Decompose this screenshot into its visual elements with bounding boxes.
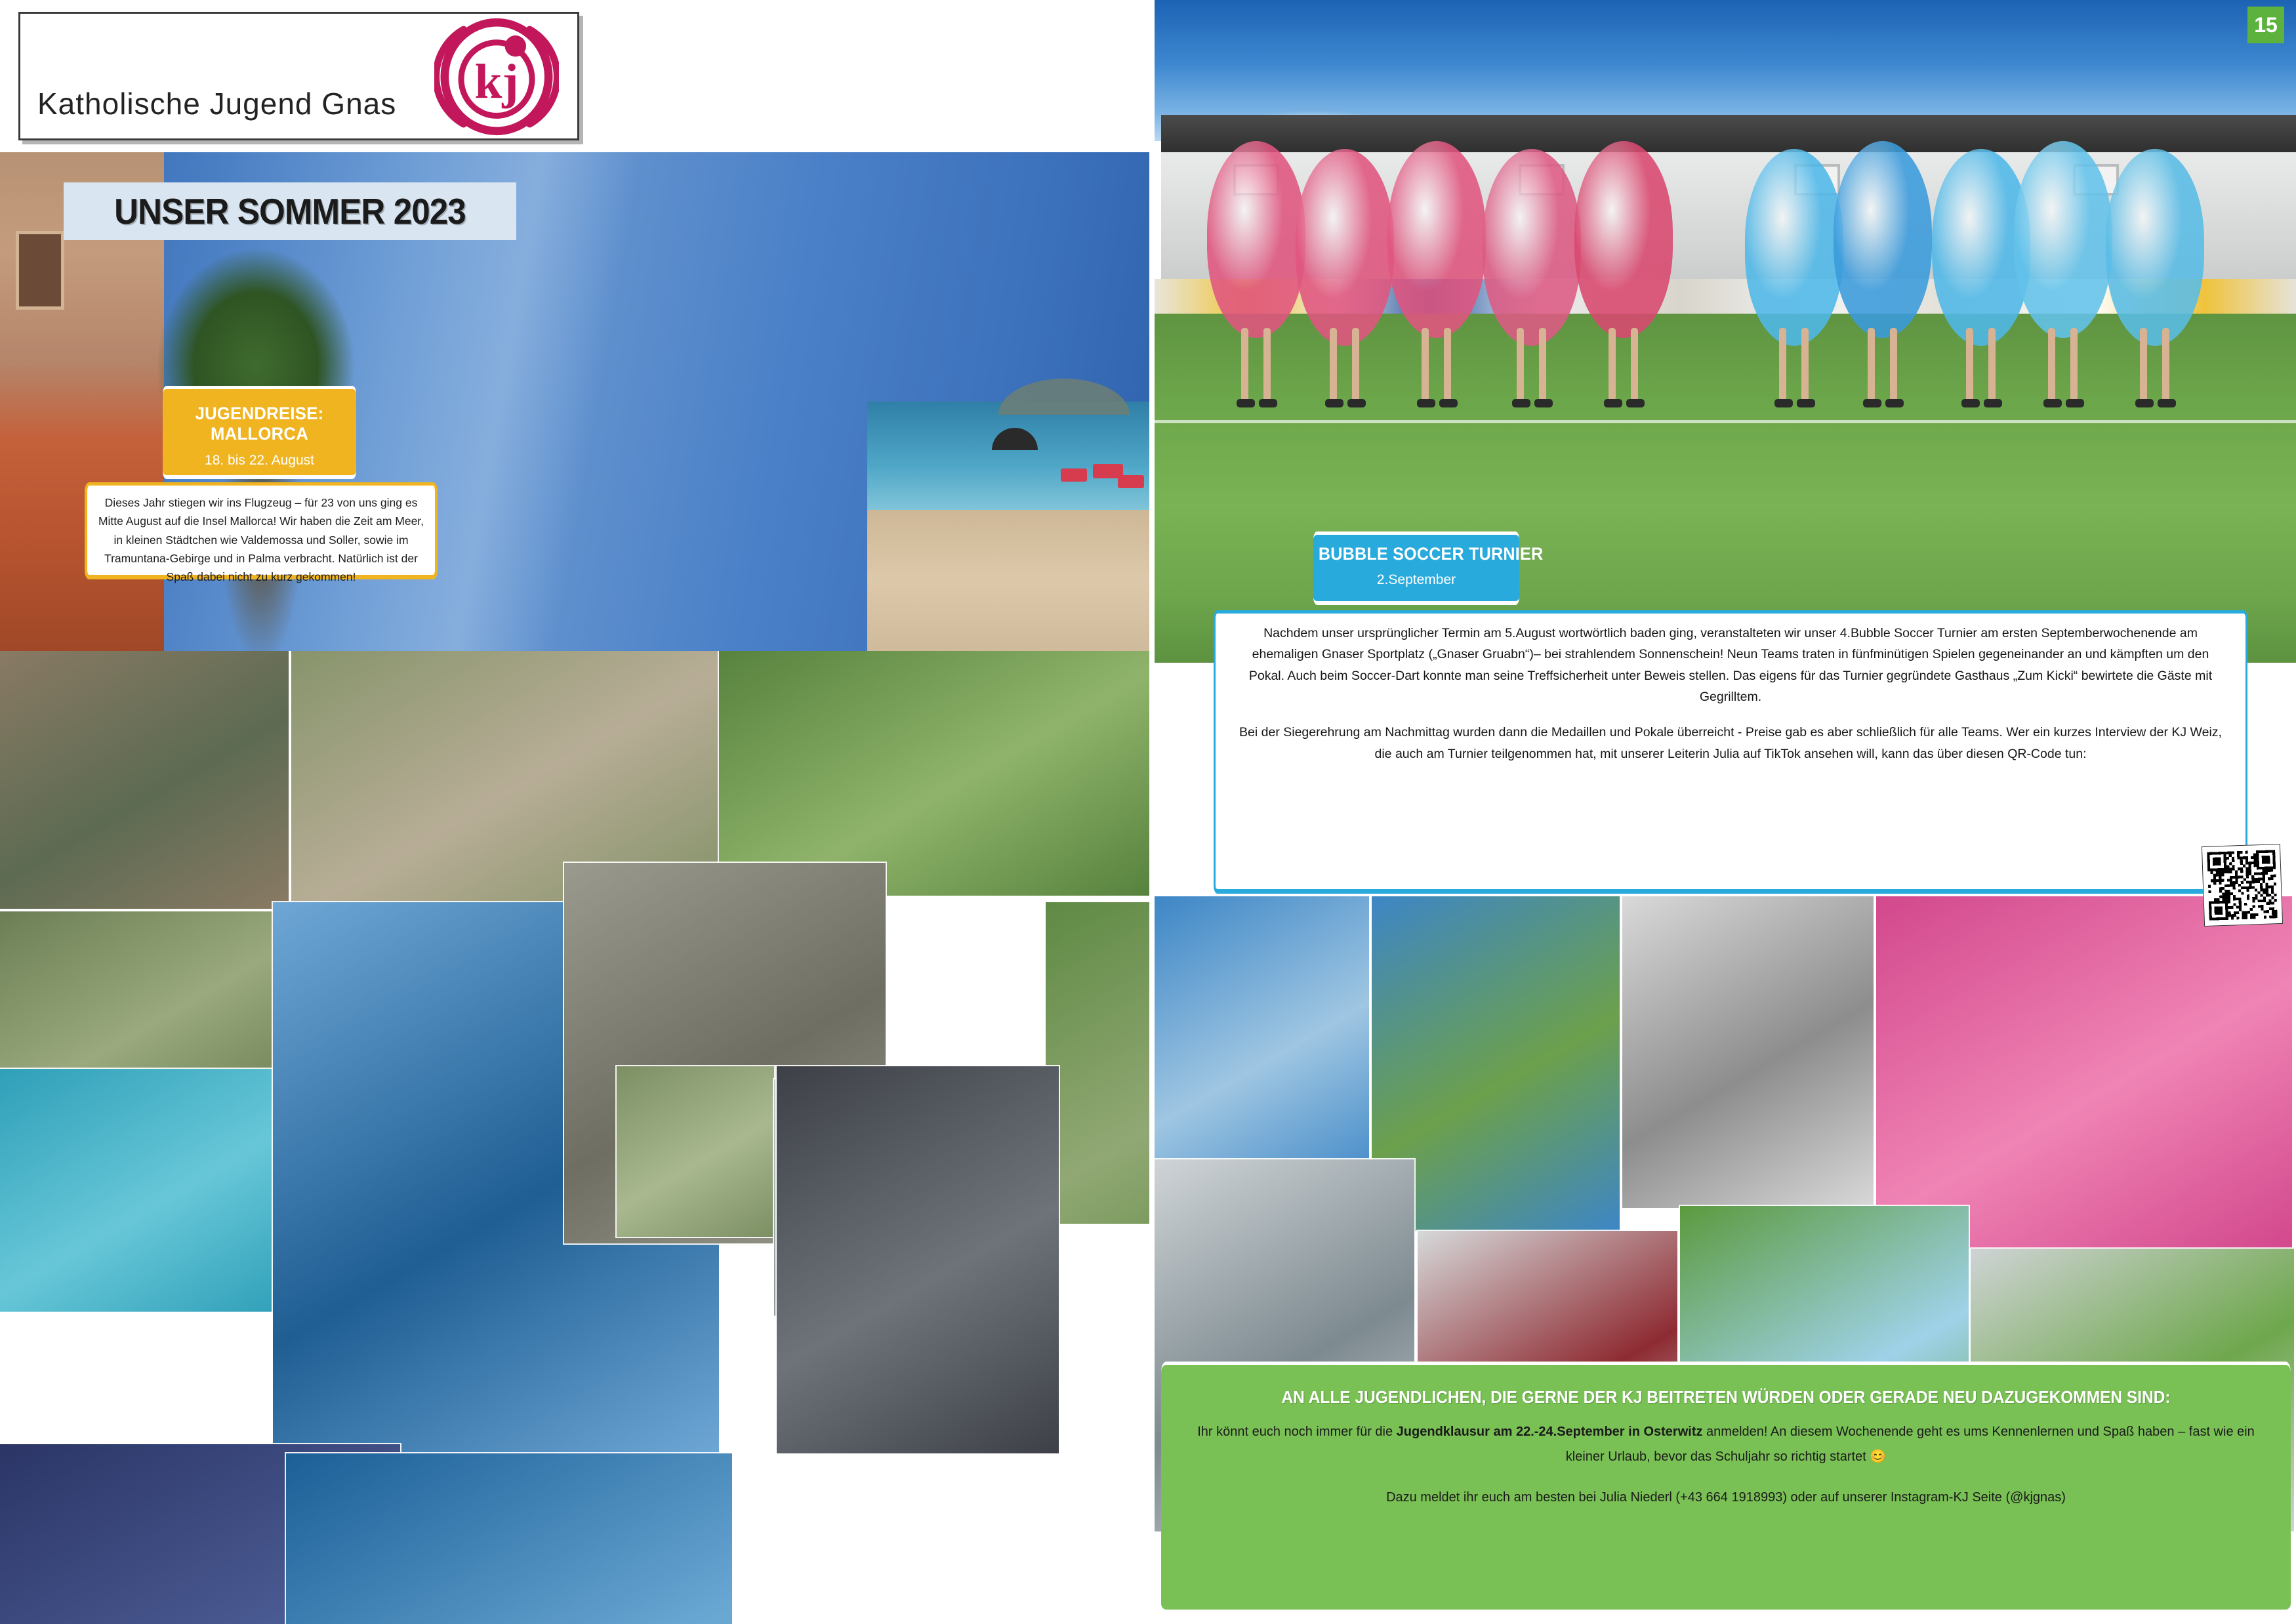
bubble-soccer-banner-date: 2.September	[1313, 572, 1519, 588]
player-shoe	[1626, 399, 1645, 407]
player-shoe	[2043, 399, 2062, 407]
player-shoe	[1347, 399, 1366, 407]
photo-island-viewpoint	[286, 1453, 732, 1624]
bubble-soccer-banner: BUBBLE SOCCER TURNIER 2.September	[1313, 531, 1519, 605]
player-leg	[1263, 328, 1271, 400]
membership-callout: AN ALLE JUGENDLICHEN, DIE GERNE DER KJ B…	[1161, 1362, 2291, 1614]
player-shoe	[1604, 399, 1622, 407]
player-leg	[1241, 328, 1248, 400]
player-shoe	[1439, 399, 1458, 407]
player-leg	[1631, 328, 1638, 400]
callout-line-1-bold: Jugendklausur am 22.-24.September in Ost…	[1397, 1425, 1703, 1439]
player-shoe	[1774, 399, 1793, 407]
player-leg	[2162, 328, 2169, 400]
player-leg	[1890, 328, 1897, 400]
kj-logo-icon: kj	[434, 18, 559, 136]
logo-box: Katholische Jugend Gnas kj	[18, 12, 579, 140]
bubble-ball	[1207, 141, 1305, 338]
mallorca-body-text: Dieses Jahr stiegen wir ins Flugzeug – f…	[97, 493, 425, 587]
photo-swimming-pool	[0, 1069, 289, 1312]
mallorca-banner: JUGENDREISE: MALLORCA 18. bis 22. August	[163, 386, 356, 479]
qr-code[interactable]	[2202, 844, 2283, 927]
hall-roof	[1161, 115, 2296, 154]
player-leg	[2070, 328, 2078, 400]
photo-girls-on-wall	[617, 1066, 774, 1237]
player-leg	[2140, 328, 2147, 400]
player-shoe	[1797, 399, 1815, 407]
bubble-ball	[1296, 149, 1394, 346]
svg-text:kj: kj	[474, 54, 518, 109]
player-leg	[1779, 328, 1786, 400]
bubble-soccer-text-box: Nachdem unser ursprünglicher Termin am 5…	[1214, 610, 2247, 894]
photo-grill-gasthaus-zum-kicki	[1622, 896, 1874, 1208]
bubble-ball	[1483, 149, 1581, 346]
player-leg	[1868, 328, 1875, 400]
mallorca-banner-date: 18. bis 22. August	[163, 453, 356, 468]
player-leg	[1539, 328, 1546, 400]
bubble-ball	[1834, 141, 1932, 338]
player-shoe	[1237, 399, 1255, 407]
player-shoe	[1863, 399, 1881, 407]
pedal-boat	[1118, 475, 1144, 488]
player-shoe	[2135, 399, 2154, 407]
page-title: UNSER SOMMER 2023	[64, 182, 516, 240]
org-name-label: Katholische Jugend Gnas	[37, 86, 396, 121]
player-leg	[1444, 328, 1451, 400]
bubble-ball	[1745, 149, 1843, 346]
left-column-mallorca: Katholische Jugend Gnas kj UNSER SOMMER …	[0, 0, 1149, 1624]
player-shoe	[1961, 399, 1980, 407]
mallorca-banner-title: JUGENDREISE: MALLORCA	[167, 404, 351, 444]
bubble-ball	[2106, 149, 2204, 346]
photo-airport-crowd	[777, 1066, 1059, 1453]
bubble-soccer-photo-collage	[1155, 896, 2296, 1356]
page-number-badge: 15	[2247, 7, 2284, 43]
bubble-soccer-banner-title: BUBBLE SOCCER TURNIER	[1319, 544, 1514, 564]
player-shoe	[2066, 399, 2084, 407]
player-leg	[1609, 328, 1616, 400]
smiley-icon: 😊	[1870, 1449, 1886, 1464]
beach-photo	[867, 510, 1149, 651]
photo-bar-terrace-group	[0, 646, 289, 909]
photo-jeep-safari-queue	[1046, 902, 1149, 1224]
logo-header-band: Katholische Jugend Gnas kj	[0, 0, 1149, 152]
photo-girl-in-pink-bubble	[1876, 896, 2292, 1249]
right-column-bubble-soccer: BUBBLE SOCCER TURNIER 2.September Nachde…	[1155, 0, 2296, 1624]
player-shoe	[1984, 399, 2002, 407]
player-shoe	[1417, 399, 1435, 407]
player-leg	[1988, 328, 1996, 400]
player-leg	[1352, 328, 1359, 400]
pitch-line	[1155, 420, 2296, 423]
sea-photo	[867, 402, 1149, 520]
bubble-soccer-paragraph-2: Bei der Siegerehrung am Nachmittag wurde…	[1234, 722, 2227, 764]
mallorca-text-box: Dieses Jahr stiegen wir ins Flugzeug – f…	[85, 482, 438, 579]
callout-line-1-pre: Ihr könnt euch noch immer für die	[1197, 1425, 1396, 1439]
photo-winner-trophy-raised	[1155, 896, 1369, 1191]
magazine-page: Katholische Jugend Gnas kj UNSER SOMMER …	[0, 0, 2296, 1624]
pedal-boat	[1061, 468, 1087, 482]
bubble-ball	[2014, 141, 2112, 338]
player-shoe	[1885, 399, 1904, 407]
bubble-ball	[1387, 141, 1486, 338]
player-shoe	[1325, 399, 1343, 407]
player-leg	[1517, 328, 1524, 400]
callout-line-2: Dazu meldet ihr euch am besten bei Julia…	[1182, 1485, 2270, 1510]
player-leg	[1966, 328, 1973, 400]
qr-code-image	[2207, 849, 2278, 921]
player-shoe	[2158, 399, 2176, 407]
player-shoe	[1512, 399, 1530, 407]
player-leg	[1422, 328, 1429, 400]
bubble-ball	[1574, 141, 1673, 338]
callout-heading: AN ALLE JUGENDLICHEN, DIE GERNE DER KJ B…	[1204, 1383, 2248, 1413]
player-leg	[1330, 328, 1337, 400]
page-title-text: UNSER SOMMER 2023	[114, 190, 466, 232]
mallorca-photo-collage	[0, 646, 1149, 1624]
player-shoe	[1534, 399, 1553, 407]
player-shoe	[1259, 399, 1277, 407]
bubble-soccer-paragraph-1: Nachdem unser ursprünglicher Termin am 5…	[1234, 623, 2227, 707]
callout-line-1: Ihr könnt euch noch immer für die Jugend…	[1182, 1419, 2270, 1469]
player-leg	[2048, 328, 2055, 400]
player-leg	[1801, 328, 1809, 400]
